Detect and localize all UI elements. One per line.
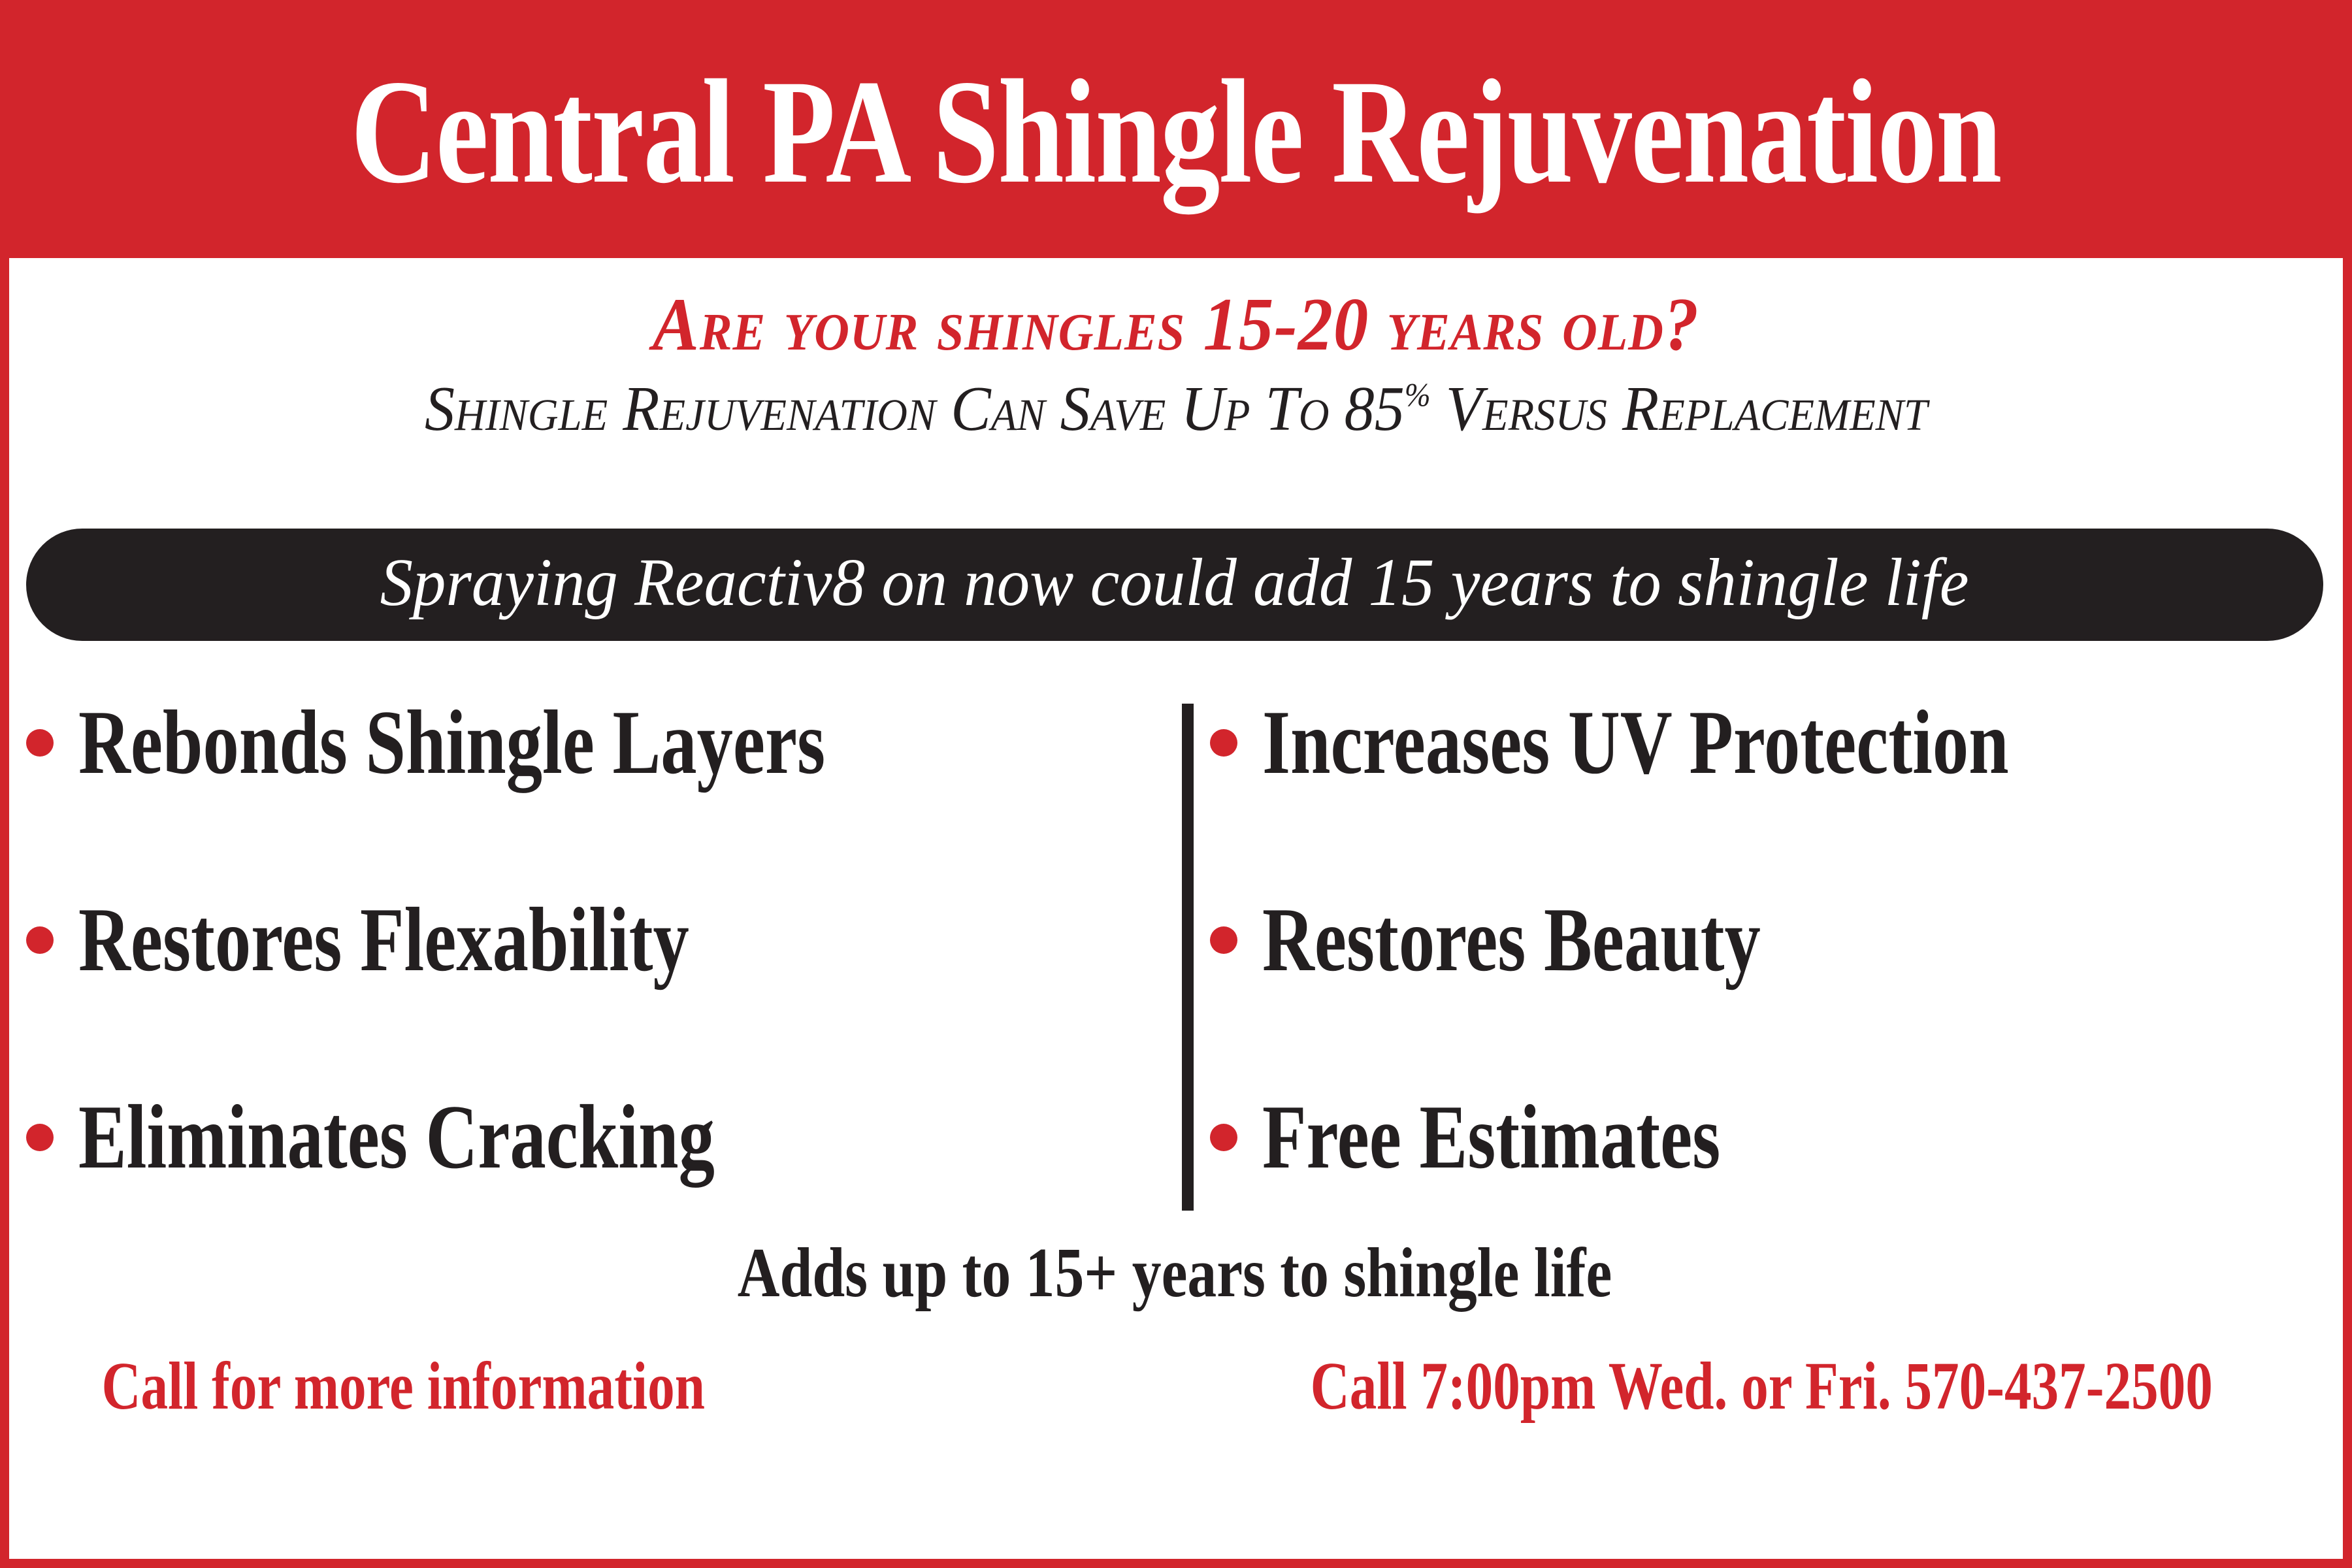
- list-item: Rebonds Shingle Layers: [26, 697, 1166, 789]
- benefit-label: Free Estimates: [1262, 1092, 1720, 1183]
- advertisement-flyer: Central PA Shingle Rejuvenation Are your…: [0, 0, 2352, 1568]
- subheadline-secondary-suffix: Versus Replacement: [1431, 374, 1927, 444]
- list-item: Eliminates Cracking: [26, 1092, 1166, 1183]
- tagline: Adds up to 15+ years to shingle life: [221, 1238, 2128, 1309]
- list-item: Increases UV Protection: [1210, 697, 2323, 789]
- list-item: Restores Flexability: [26, 894, 1166, 986]
- bullet-icon: [1210, 926, 1237, 954]
- callout-pill: Spraying Reactiv8 on now could add 15 ye…: [26, 529, 2323, 641]
- callout-pill-text: Spraying Reactiv8 on now could add 15 ye…: [380, 549, 1969, 617]
- subheadline-secondary: Shingle Rejuvenation Can Save Up To 85% …: [79, 377, 2273, 441]
- benefits-column-left: Rebonds Shingle Layers Restores Flexabil…: [26, 681, 1166, 1212]
- percent-symbol: %: [1405, 377, 1431, 414]
- footer-call-prompt: Call for more information: [101, 1352, 705, 1420]
- benefit-label: Increases UV Protection: [1262, 697, 2009, 789]
- benefits-column-right: Increases UV Protection Restores Beauty …: [1210, 681, 2323, 1212]
- ad-body: Are your shingles 15-20 years old? Shing…: [9, 258, 2343, 1559]
- bullet-icon: [26, 729, 54, 757]
- page-title: Central PA Shingle Rejuvenation: [351, 64, 2001, 201]
- benefit-label: Rebonds Shingle Layers: [78, 697, 825, 789]
- benefits-section: Rebonds Shingle Layers Restores Flexabil…: [26, 681, 2323, 1212]
- bullet-icon: [1210, 1124, 1237, 1151]
- benefit-label: Eliminates Cracking: [78, 1092, 715, 1183]
- subheadline-primary: Are your shingles 15-20 years old?: [103, 287, 2249, 363]
- benefit-label: Restores Flexability: [78, 894, 689, 986]
- bullet-icon: [1210, 729, 1237, 757]
- bullet-icon: [26, 1124, 54, 1151]
- footer-phone-number[interactable]: Call 7:00pm Wed. or Fri. 570-437-2500: [1311, 1352, 2213, 1420]
- list-item: Free Estimates: [1210, 1092, 2323, 1183]
- masthead-banner: Central PA Shingle Rejuvenation: [0, 0, 2352, 258]
- benefit-label: Restores Beauty: [1262, 894, 1761, 986]
- subheadline-secondary-prefix: Shingle Rejuvenation Can Save Up To 85: [425, 374, 1405, 444]
- list-item: Restores Beauty: [1210, 894, 2323, 986]
- footer: Call for more information Call 7:00pm We…: [26, 1352, 2326, 1420]
- column-divider: [1182, 704, 1194, 1211]
- bullet-icon: [26, 926, 54, 954]
